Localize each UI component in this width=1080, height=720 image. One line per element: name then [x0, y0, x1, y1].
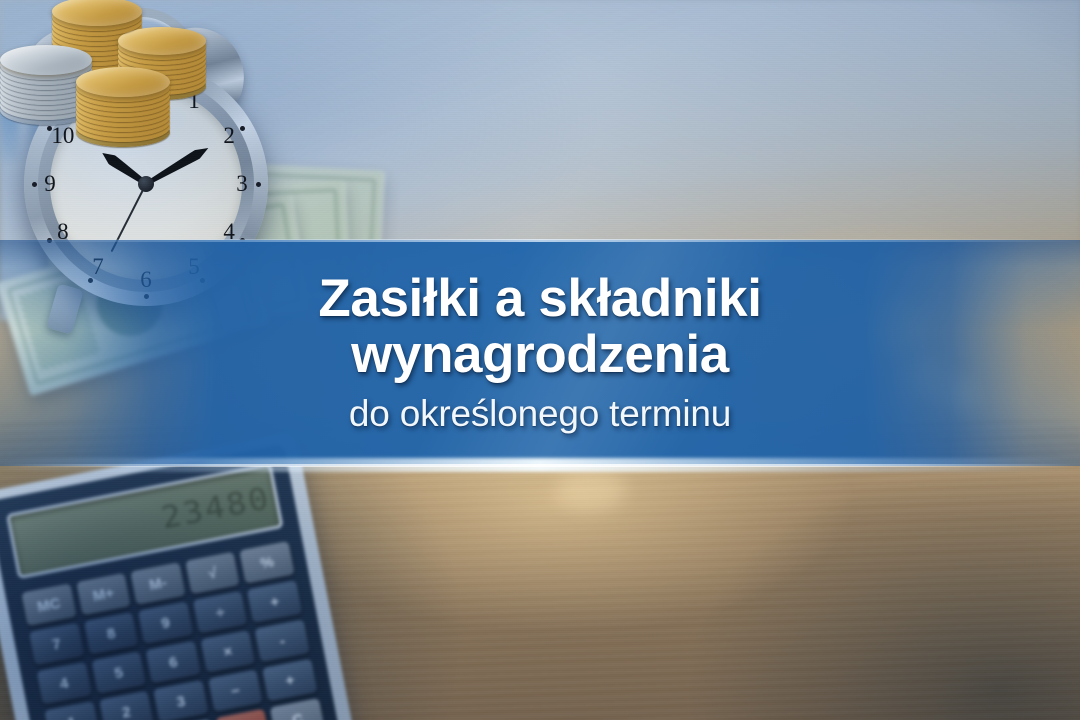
subheadline: do określonego terminu [349, 394, 731, 435]
hero-image: 23480 MCM+M-√%789÷+456×-123−+000.=C [0, 0, 1080, 720]
coin [118, 27, 206, 55]
headline-line-2: wynagrodzenia [351, 328, 729, 383]
headline-block: Zasiłki a składniki wynagrodzenia do okr… [0, 240, 1080, 466]
coin [76, 67, 170, 97]
headline-line-1: Zasiłki a składniki [318, 272, 761, 327]
coin [0, 45, 92, 75]
